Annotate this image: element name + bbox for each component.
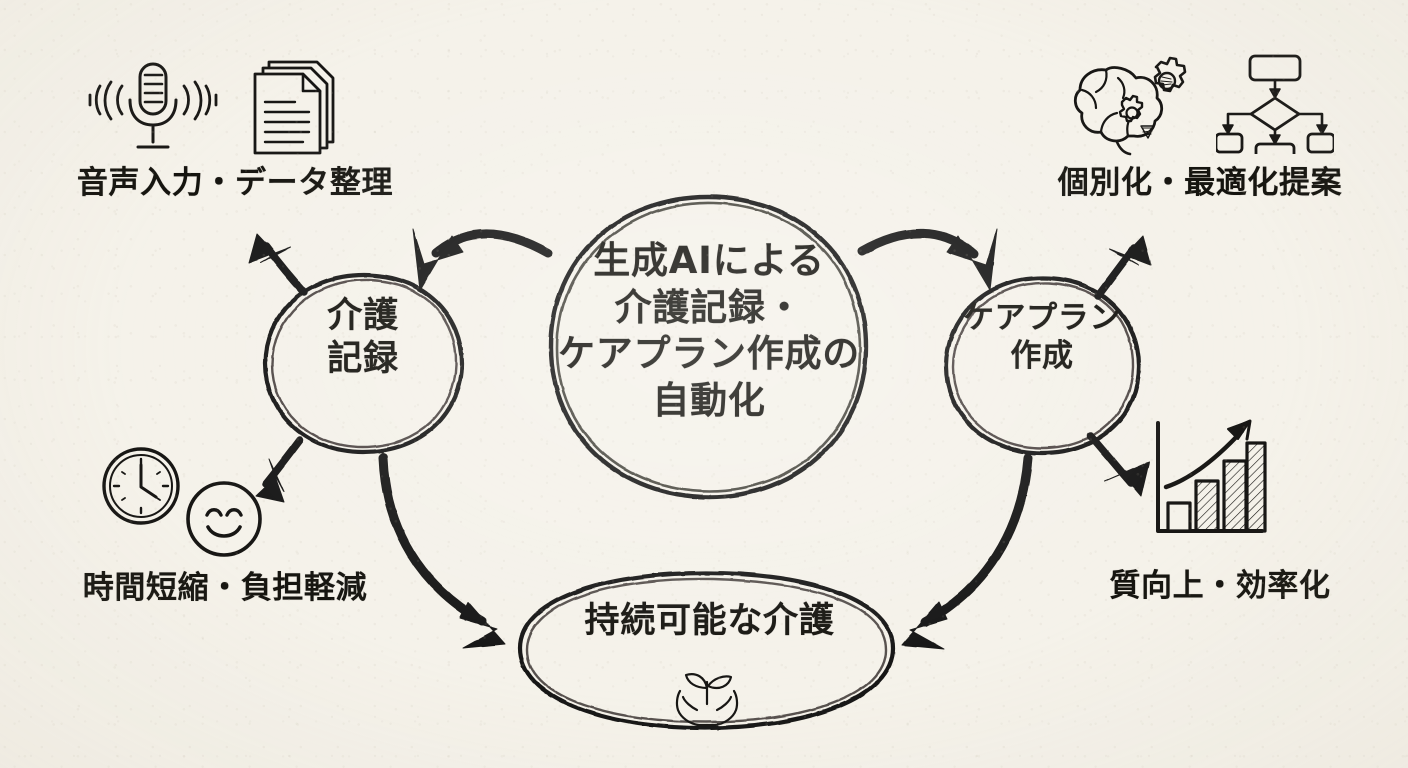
stacked-documents-icon xyxy=(243,52,343,161)
arrow-right-to-bottom xyxy=(902,458,1028,649)
clock-icon xyxy=(100,445,182,531)
microphone-soundwave-icon xyxy=(82,58,222,162)
growth-bar-chart-icon xyxy=(1150,415,1270,549)
right-node-circle xyxy=(946,278,1139,453)
diagram-canvas: 生成AIによる 介護記録・ ケアプラン作成の 自動化 介護 記録 ケアプラン 作… xyxy=(0,0,1408,768)
flowchart-icon xyxy=(1216,52,1334,158)
left-node-circle xyxy=(265,275,462,452)
arrow-right-to-outcome-topright xyxy=(1098,236,1151,296)
arrow-center-to-left xyxy=(413,229,548,290)
brain-gears-icon xyxy=(1068,52,1188,161)
arrow-left-to-outcome-topleft xyxy=(249,234,304,292)
arrow-center-to-right xyxy=(862,229,997,290)
center-node-circle xyxy=(551,197,866,497)
arrow-right-to-outcome-bottomright xyxy=(1091,436,1149,496)
arrow-left-to-bottom xyxy=(383,458,505,648)
smiley-face-icon xyxy=(183,478,265,564)
hands-sprout-icon xyxy=(652,658,762,732)
